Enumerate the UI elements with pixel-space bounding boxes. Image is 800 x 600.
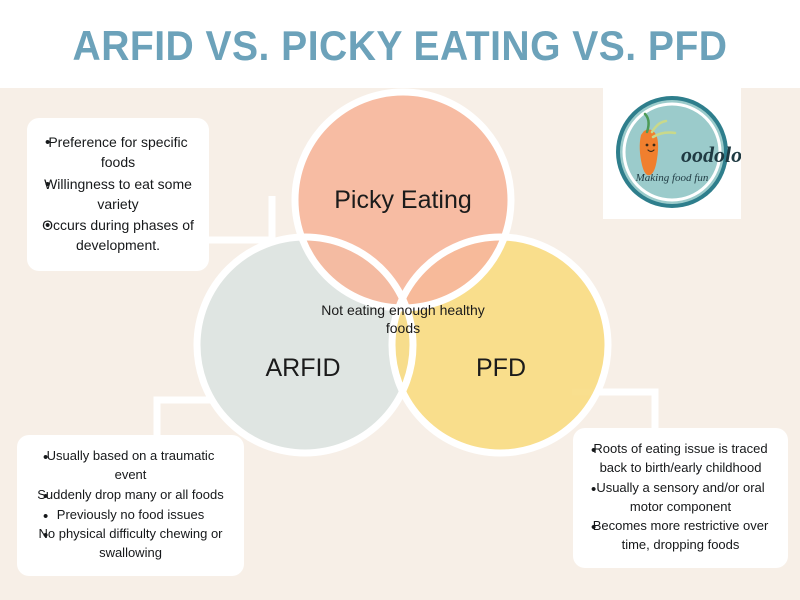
callout-list-arfid: • Usually based on a traumatic event • S…: [25, 447, 236, 563]
callout-list-picky-eating: • Preference for specific foods • Willin…: [37, 132, 199, 256]
callout-list-pfd: • Roots of eating issue is traced back t…: [581, 440, 780, 555]
brand-logo-card: oodology Making food fun: [603, 86, 741, 219]
list-item-text: Becomes more restrictive over time, drop…: [593, 518, 769, 552]
bullet-icon: •: [45, 132, 50, 153]
list-item-text: Willingness to eat some variety: [44, 176, 192, 212]
bullet-icon: •: [43, 506, 48, 527]
bullet-icon: •: [45, 174, 50, 195]
page-title: ARFID VS. PICKY EATING VS. PFD: [28, 22, 772, 70]
list-item-text: Occurs during phases of development.: [42, 217, 194, 253]
bullet-icon: •: [43, 525, 48, 546]
list-item: • Willingness to eat some variety: [37, 174, 199, 215]
list-item-text: No physical difficulty chewing or swallo…: [38, 526, 222, 560]
venn-diagram: Picky Eating ARFID PFD Not eating enough…: [180, 80, 630, 480]
bullet-icon: •: [591, 517, 596, 538]
callout-picky-eating: • Preference for specific foods • Willin…: [27, 118, 209, 271]
list-item-text: Usually based on a traumatic event: [47, 448, 215, 482]
list-item-text: Roots of eating issue is traced back to …: [593, 441, 767, 475]
venn-label-picky-eating: Picky Eating: [334, 186, 472, 214]
list-item-text: Suddenly drop many or all foods: [37, 487, 223, 502]
list-item-text: Usually a sensory and/or oral motor comp…: [596, 480, 764, 514]
list-item: • Occurs during phases of development.: [37, 215, 199, 256]
venn-label-pfd: PFD: [476, 354, 526, 382]
bullet-icon: •: [43, 486, 48, 507]
callout-pfd: • Roots of eating issue is traced back t…: [573, 428, 788, 568]
list-item: • Suddenly drop many or all foods: [25, 486, 236, 505]
list-item: • Usually based on a traumatic event: [25, 447, 236, 485]
list-item: • Preference for specific foods: [37, 132, 199, 173]
bullet-icon: •: [591, 440, 596, 461]
callout-arfid: • Usually based on a traumatic event • S…: [17, 435, 244, 576]
logo-tagline: Making food fun: [635, 172, 709, 184]
list-item: • Previously no food issues: [25, 506, 236, 525]
brand-logo: oodology Making food fun: [603, 86, 741, 219]
bullet-icon: •: [591, 479, 596, 500]
list-item-text: Previously no food issues: [57, 507, 204, 522]
list-item-text: Preference for specific foods: [48, 134, 187, 170]
list-item: • No physical difficulty chewing or swal…: [25, 525, 236, 563]
venn-center-label-line2: foods: [386, 320, 420, 336]
venn-center-label-line1: Not eating enough healthy: [321, 302, 484, 318]
venn-label-arfid: ARFID: [266, 354, 341, 382]
bullet-icon: •: [45, 215, 50, 236]
bullet-icon: •: [43, 447, 48, 468]
list-item: • Roots of eating issue is traced back t…: [581, 440, 780, 478]
list-item: • Usually a sensory and/or oral motor co…: [581, 479, 780, 517]
infographic-poster: ARFID VS. PICKY EATING VS. PFD Picky Eat…: [0, 0, 800, 600]
logo-brand-text: oodology: [681, 142, 741, 167]
list-item: • Becomes more restrictive over time, dr…: [581, 517, 780, 555]
